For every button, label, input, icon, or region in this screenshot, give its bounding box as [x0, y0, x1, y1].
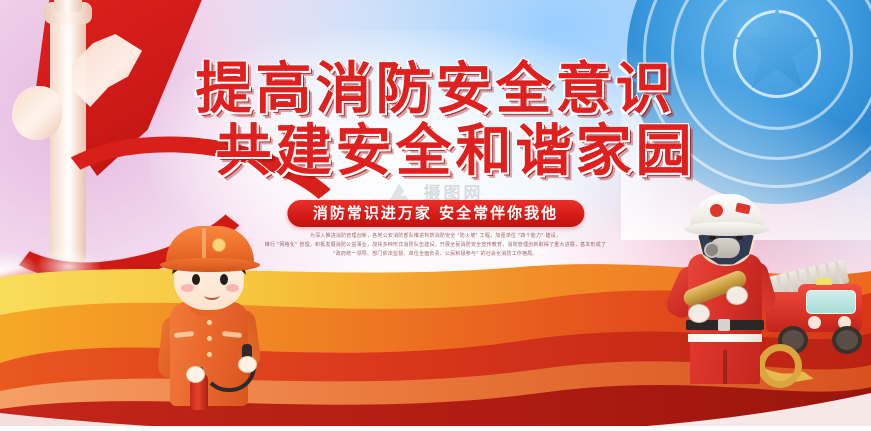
truck-beacon-icon — [816, 278, 832, 285]
boy-cheek-left — [181, 284, 194, 292]
boy-helmet-badge-icon — [212, 238, 226, 252]
boy-helmet-crest — [202, 228, 206, 260]
boy-eye-left — [192, 274, 200, 285]
truck-wheel-right — [832, 326, 862, 354]
subtitle-banner: 消防常识进万家 安全常伴你我他 — [287, 200, 584, 227]
firefighter-helmet-brim — [684, 222, 770, 236]
bottom-white-frame — [0, 426, 871, 431]
boy-eye-right — [220, 274, 228, 285]
boy-cheek-right — [226, 284, 239, 292]
firefighter-leg-seam — [723, 350, 727, 384]
firefighter-reflective-stripe — [688, 334, 762, 342]
firefighter-helmet-badge-icon — [708, 202, 725, 219]
boy-button-1 — [207, 320, 212, 325]
fire-safety-poster: 提高消防安全意识 共建安全和谐家园 摄图网 消防常识进万家 安全常伴你我他 为深… — [0, 0, 871, 431]
boy-button-2 — [207, 336, 212, 341]
adult-firefighter — [666, 192, 790, 382]
boy-button-3 — [207, 352, 212, 357]
pillar-top — [54, 0, 82, 12]
huabiao-pillar-group — [0, 0, 180, 250]
truck-headlight-left — [808, 316, 821, 329]
firefighter-glove-left — [688, 304, 710, 323]
boy-hand-left — [186, 366, 205, 383]
boy-helmet-brim — [160, 258, 260, 272]
boy-mouth — [204, 290, 220, 300]
subtitle-banner-text: 消防常识进万家 安全常伴你我他 — [313, 204, 558, 222]
firefighter-glove-right — [726, 286, 748, 305]
body-line-1: 为深入推进消防管理创新，各地公安消防部队推进构筑消防安全 "防火墙" 工程，加强… — [236, 232, 636, 241]
firefighter-belt-buckle — [718, 319, 730, 331]
truck-windshield — [806, 290, 856, 314]
boy-hand-right — [238, 356, 257, 373]
firefighter-hose-coil — [758, 344, 802, 388]
cartoon-boy-firefighter — [150, 224, 268, 406]
firefighter-mask-filter-icon — [704, 242, 720, 258]
